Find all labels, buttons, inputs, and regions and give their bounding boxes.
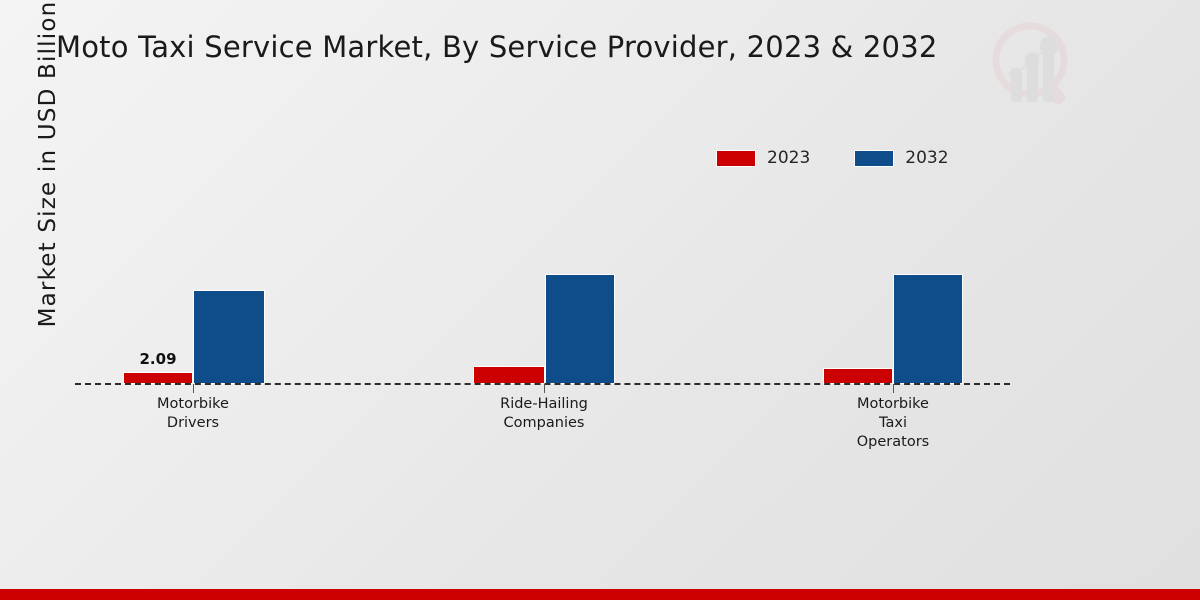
x-axis-baseline [75,383,1010,385]
y-axis-title: Market Size in USD Billion [35,1,61,328]
x-axis-label-line: Motorbike [783,395,1003,414]
x-axis-label-line: Motorbike [83,395,303,414]
magnifier-bar-chart-logo-icon [985,18,1085,113]
legend-item-2032[interactable]: 2032 [854,148,948,168]
legend-swatch-2023 [716,150,756,167]
x-axis-tick-2 [544,384,545,393]
bar-group-ride-hailing-companies [473,180,615,384]
x-axis-label-ride-hailing-companies: Ride-Hailing Companies [434,395,654,433]
legend-label-2032: 2032 [905,148,948,168]
x-axis-label-line: Companies [434,414,654,433]
legend-label-2023: 2023 [767,148,810,168]
x-axis-label-line: Operators [783,433,1003,452]
x-axis-label-line: Ride-Hailing [434,395,654,414]
legend-item-2023[interactable]: 2023 [716,148,810,168]
x-axis-label-motorbike-taxi-operators: Motorbike Taxi Operators [783,395,1003,452]
x-axis-label-line: Taxi [783,414,1003,433]
x-axis-tick-1 [193,384,194,393]
footer-accent-bar [0,589,1200,600]
x-axis-label-line: Drivers [83,414,303,433]
bar-2023-ride-hailing-companies[interactable] [473,366,545,384]
plot-area: 2.09 [75,180,1010,384]
bar-2032-ride-hailing-companies[interactable] [545,274,615,384]
x-axis-tick-3 [893,384,894,393]
y-axis-title-wrapper: Market Size in USD Billion [31,0,65,374]
x-axis-label-motorbike-drivers: Motorbike Drivers [83,395,303,433]
bar-2032-motorbike-taxi-operators[interactable] [893,274,963,384]
bar-2032-motorbike-drivers[interactable] [193,290,265,384]
chart-legend: 2023 2032 [716,148,949,168]
data-label-2023-motorbike-drivers: 2.09 [139,350,176,368]
bar-2023-motorbike-taxi-operators[interactable] [823,368,893,384]
bar-group-motorbike-taxi-operators [823,180,963,384]
bar-group-motorbike-drivers: 2.09 [123,180,265,384]
chart-canvas: Moto Taxi Service Market, By Service Pro… [0,0,1200,600]
legend-swatch-2032 [854,150,894,167]
chart-title: Moto Taxi Service Market, By Service Pro… [56,30,956,64]
